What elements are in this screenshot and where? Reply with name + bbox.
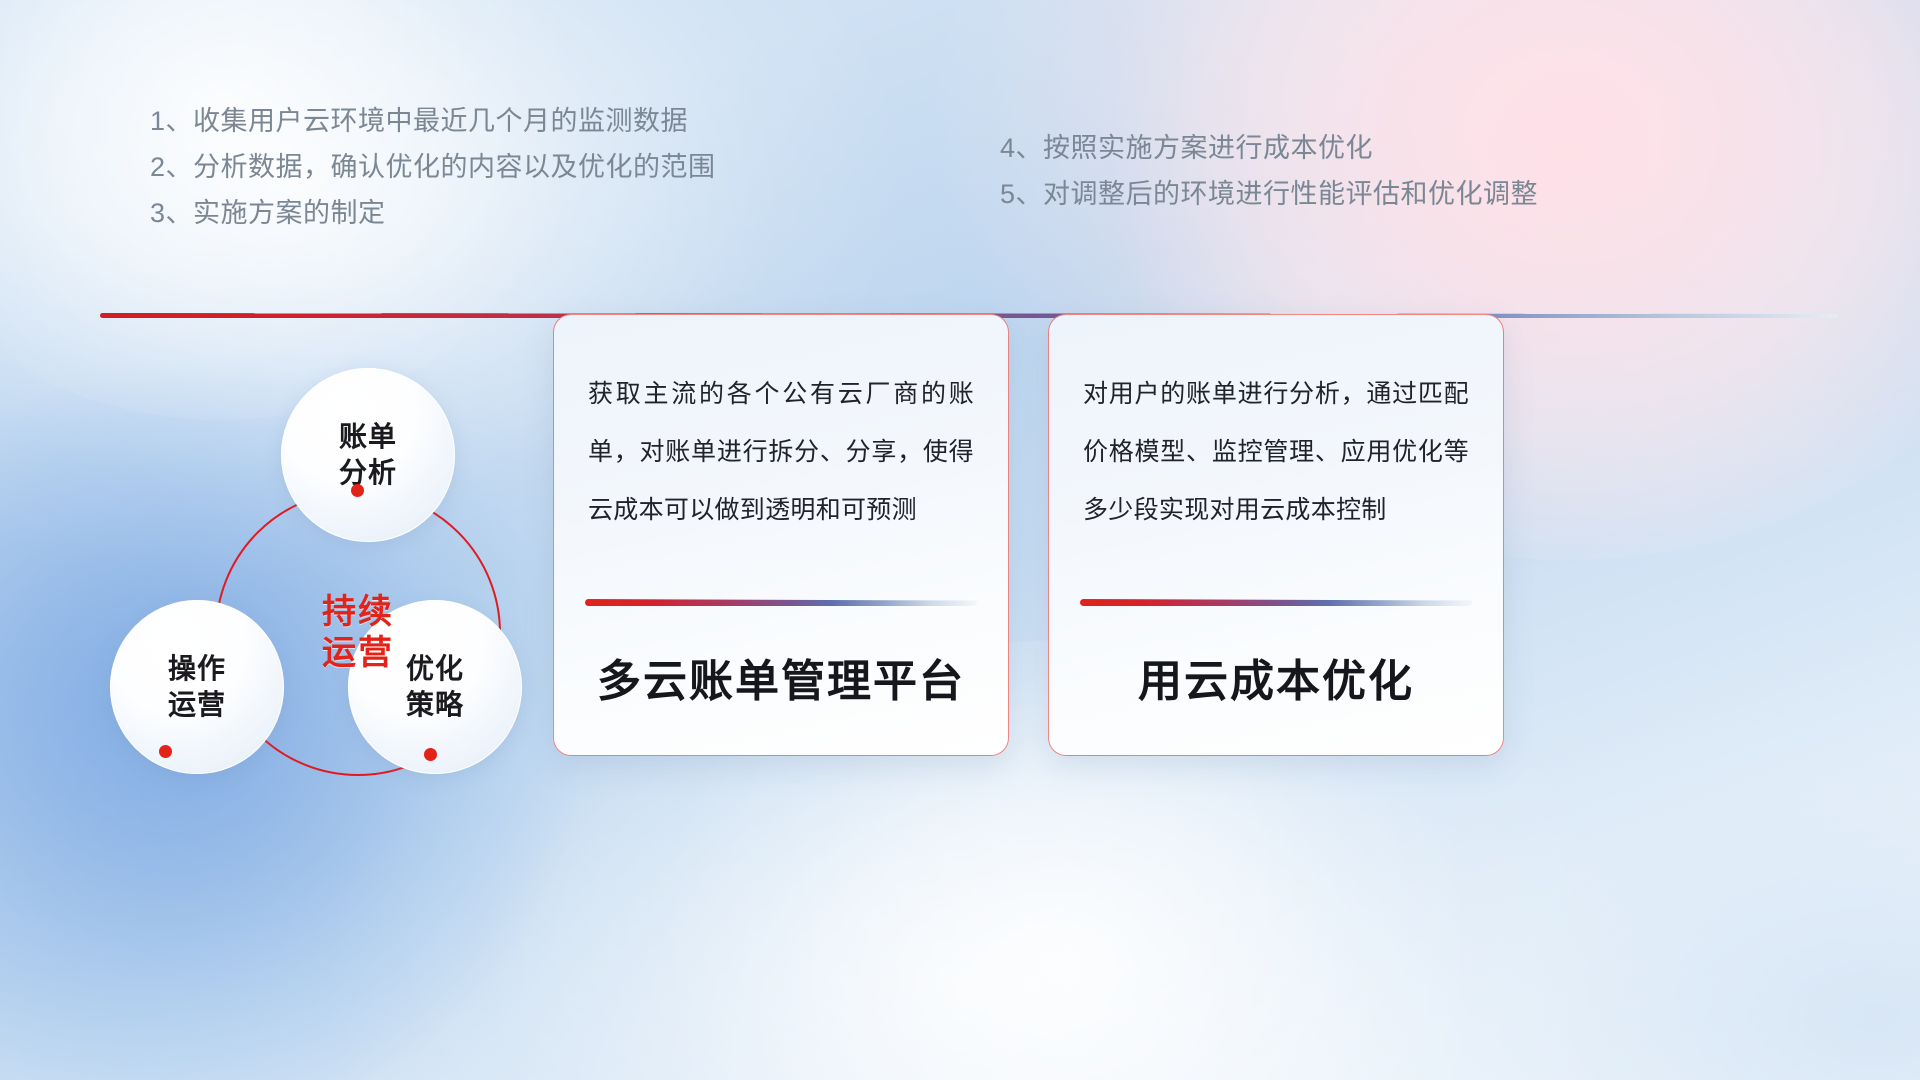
center-label-line2: 运营 xyxy=(322,633,394,674)
bubble-label-line1: 账单 xyxy=(339,419,397,455)
diagram-center-label: 持续 运营 xyxy=(215,490,501,776)
card-title: 用云成本优化 xyxy=(1049,645,1503,709)
steps-right-column: 4、按照实施方案进行成本优化 5、对调整后的环境进行性能评估和优化调整 xyxy=(1000,125,1538,217)
step-item: 5、对调整后的环境进行性能评估和优化调整 xyxy=(1000,171,1538,217)
step-item: 3、实施方案的制定 xyxy=(150,190,716,236)
steps-left-column: 1、收集用户云环境中最近几个月的监测数据 2、分析数据，确认优化的内容以及优化的… xyxy=(150,98,716,236)
card-multi-cloud-bill-platform[interactable]: 获取主流的各个公有云厂商的账单，对账单进行拆分、分享，使得云成本可以做到透明和可… xyxy=(553,314,1009,756)
card-body-text: 对用户的账单进行分析，通过匹配价格模型、监控管理、应用优化等多少段实现对用云成本… xyxy=(1083,365,1469,539)
card-body-text: 获取主流的各个公有云厂商的账单，对账单进行拆分、分享，使得云成本可以做到透明和可… xyxy=(588,365,974,539)
card-title: 多云账单管理平台 xyxy=(554,645,1008,709)
card-cloud-cost-optimization[interactable]: 对用户的账单进行分析，通过匹配价格模型、监控管理、应用优化等多少段实现对用云成本… xyxy=(1048,314,1504,756)
card-divider xyxy=(585,599,977,606)
bubble-label-line2: 分析 xyxy=(339,455,397,491)
connector-dot-top-icon xyxy=(351,484,364,497)
step-item: 4、按照实施方案进行成本优化 xyxy=(1000,125,1538,171)
slide-canvas: 1、收集用户云环境中最近几个月的监测数据 2、分析数据，确认优化的内容以及优化的… xyxy=(0,0,1920,1080)
card-divider xyxy=(1080,599,1472,606)
connector-dot-left-icon xyxy=(159,745,172,758)
step-item: 1、收集用户云环境中最近几个月的监测数据 xyxy=(150,98,716,144)
connector-dot-right-icon xyxy=(424,748,437,761)
center-label-line1: 持续 xyxy=(322,592,394,633)
step-item: 2、分析数据，确认优化的内容以及优化的范围 xyxy=(150,144,716,190)
